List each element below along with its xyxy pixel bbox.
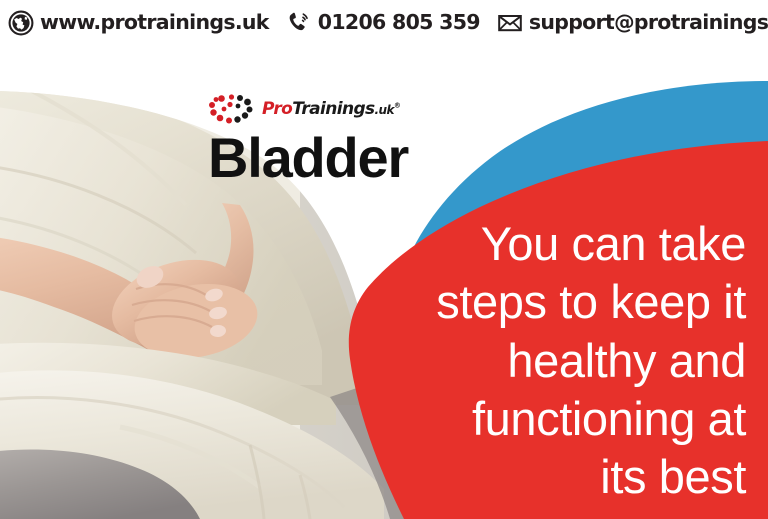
logo-pro-text: Pro bbox=[262, 99, 292, 119]
page-title: Bladder bbox=[208, 129, 478, 186]
logo-uk-text: .uk bbox=[375, 103, 394, 117]
logo-lockup[interactable]: ProTrainings.uk® bbox=[208, 93, 478, 126]
headline-line-1: You can take bbox=[368, 215, 746, 273]
headline-block: You can take steps to keep it healthy an… bbox=[368, 215, 746, 506]
email-text: support@protrainings.uk bbox=[529, 12, 768, 33]
logo-trainings-text: Trainings bbox=[292, 99, 374, 119]
phone-icon bbox=[286, 10, 312, 36]
headline-line-5: its best bbox=[368, 448, 746, 506]
envelope-icon bbox=[497, 10, 523, 36]
contact-item-website[interactable]: www.protrainings.uk bbox=[8, 10, 269, 36]
phone-text: 01206 805 359 bbox=[318, 12, 480, 33]
globe-icon bbox=[8, 10, 34, 36]
headline-line-2: steps to keep it bbox=[368, 273, 746, 331]
protrainings-dots-logo bbox=[208, 94, 260, 126]
headline-line-4: functioning at bbox=[368, 390, 746, 448]
brand-block: ProTrainings.uk® Bladder bbox=[208, 93, 478, 186]
logo-wordmark: ProTrainings.uk® bbox=[262, 101, 400, 118]
contact-bar: www.protrainings.uk 01206 805 359 suppor… bbox=[0, 0, 768, 45]
logo-registered-mark: ® bbox=[394, 101, 400, 109]
contact-item-email[interactable]: support@protrainings.uk bbox=[497, 10, 768, 36]
contact-item-phone[interactable]: 01206 805 359 bbox=[286, 10, 480, 36]
poster-canvas: www.protrainings.uk 01206 805 359 suppor… bbox=[0, 0, 768, 519]
artwork-area: ProTrainings.uk® Bladder You can take st… bbox=[0, 45, 768, 519]
headline-line-3: healthy and bbox=[368, 332, 746, 390]
website-text: www.protrainings.uk bbox=[40, 12, 269, 33]
